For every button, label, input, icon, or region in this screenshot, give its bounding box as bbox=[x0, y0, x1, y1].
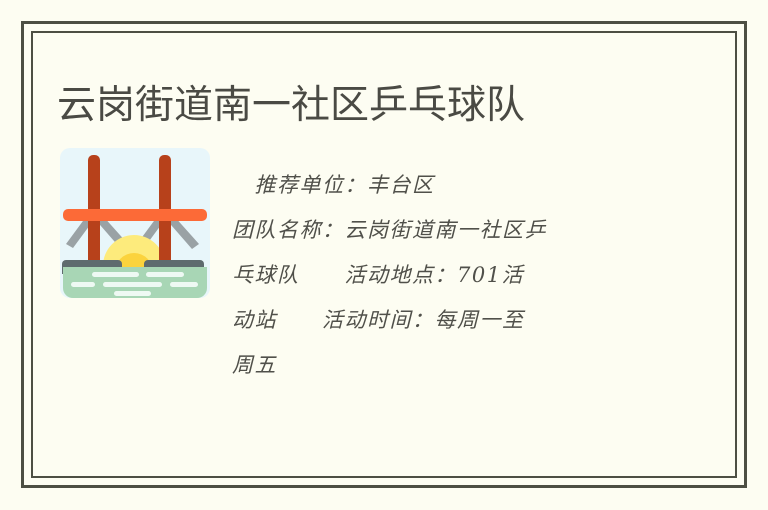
detail-line-1: 推荐单位：丰台区 bbox=[232, 163, 652, 208]
bridge-sunset-icon bbox=[60, 148, 210, 298]
detail-line-2: 团队名称：云岗街道南一社区乒 bbox=[232, 208, 652, 253]
team-details: 推荐单位：丰台区 团队名称：云岗街道南一社区乒 乓球队 活动地点：701活 动站… bbox=[232, 163, 652, 388]
detail-line-5: 周五 bbox=[232, 343, 652, 388]
bridge-sunset-svg bbox=[60, 148, 210, 298]
detail-line-4: 动站 活动时间：每周一至 bbox=[232, 298, 652, 343]
page-root: 云岗街道南一社区乒乓球队 bbox=[0, 0, 768, 510]
detail-line-3: 乓球队 活动地点：701活 bbox=[232, 253, 652, 298]
page-title: 云岗街道南一社区乒乓球队 bbox=[57, 83, 677, 129]
